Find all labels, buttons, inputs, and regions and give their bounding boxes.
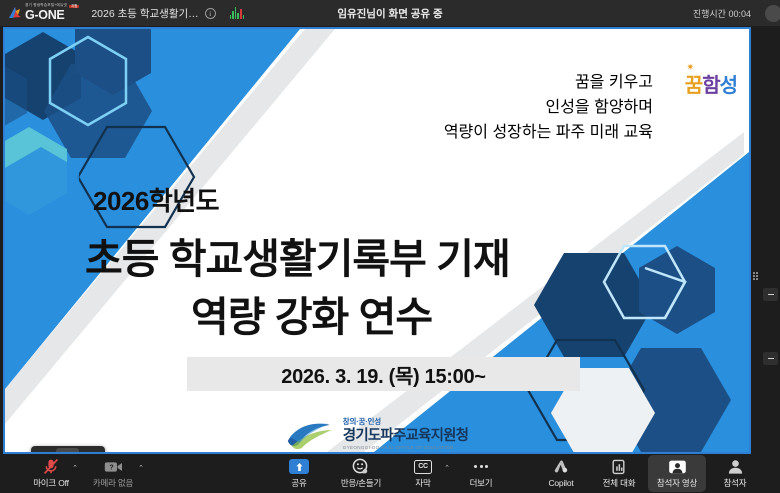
title-bar-right: 진행시간 00:04 — [693, 0, 776, 26]
teams-meeting-window: 경기 평생학습포털+에듀넷 지원 G-ONE 2026 초등 학교생활기… i … — [0, 0, 780, 493]
cc-icon-text: CC — [414, 460, 432, 474]
side-chip-upper[interactable] — [763, 288, 778, 301]
camera-button-label: 카메라 없음 — [93, 477, 133, 489]
chat-button-label: 전체 대화 — [603, 477, 636, 489]
toolbar-left-group: 마이크 Off ⌃ ? 카메라 없음 ⌃ — [22, 455, 146, 492]
g-one-badge: 지원 — [69, 5, 79, 8]
person-icon — [727, 458, 744, 475]
office-name-kr: 경기도파주교육지원청 — [343, 427, 468, 445]
cc-icon: CC — [414, 458, 432, 475]
slide-year: 2026학년도 — [93, 181, 219, 218]
avatar[interactable] — [765, 5, 780, 22]
participants-button-label: 참석자 — [724, 477, 747, 489]
info-icon[interactable]: i — [205, 8, 216, 19]
star-icon — [6, 5, 23, 22]
chat-button[interactable]: 전체 대화 — [590, 455, 648, 492]
side-chip-bar-icon — [768, 294, 774, 295]
mic-button[interactable]: 마이크 Off ⌃ — [22, 455, 80, 492]
reactions-icon — [352, 458, 370, 475]
reactions-button-label: 반응/손들기 — [341, 477, 381, 489]
toolbar-right-group: Copilot 전체 대화 — [532, 455, 764, 492]
svg-text:?: ? — [109, 464, 113, 471]
side-chip-lower[interactable] — [763, 352, 778, 365]
ppt-playback-controls[interactable]: ❚❚ ➤ ❘▶ — [31, 446, 105, 452]
office-logo: 창의·꿈·인성 경기도파주교육지원청 GYEONGGI-DO PAJU OFFI… — [286, 417, 468, 451]
captions-button-label: 자막 — [415, 477, 430, 489]
g-one-wordmark: 경기 평생학습포털+에듀넷 지원 G-ONE — [25, 4, 79, 21]
chevron-up-icon[interactable]: ⌃ — [138, 464, 144, 472]
slide-title-line-1: 초등 학교생활기록부 기재 — [85, 225, 510, 285]
office-text: 창의·꿈·인성 경기도파주교육지원청 GYEONGGI-DO PAJU OFFI… — [343, 417, 468, 450]
slide-text-block: 2026학년도 초등 학교생활기록부 기재 역량 강화 연수 2026. 3. … — [5, 29, 749, 452]
mic-button-label: 마이크 Off — [33, 477, 69, 489]
chat-icon — [611, 458, 628, 475]
participant-video-button-label: 참석자 영상 — [657, 477, 697, 489]
title-bar: 경기 평생학습포털+에듀넷 지원 G-ONE 2026 초등 학교생활기… i … — [0, 0, 780, 26]
drag-handle-dots-icon[interactable] — [753, 272, 758, 280]
share-button-label: 공유 — [291, 477, 306, 489]
swoosh-icon — [286, 417, 336, 451]
copilot-button-label: Copilot — [548, 478, 573, 488]
participant-video-button[interactable]: 참석자 영상 — [648, 455, 706, 492]
office-name-en: GYEONGGI-DO PAJU OFFICE OF EDUCATION — [343, 445, 468, 451]
share-button[interactable]: 공유 — [270, 455, 328, 492]
toolbar-mid-group: 공유 반응/손들기 CC 자막 — [270, 455, 510, 492]
slide-date-text: 2026. 3. 19. (목) 15:00~ — [281, 360, 485, 389]
audio-waveform-icon[interactable] — [230, 7, 245, 19]
presentation-slide: 꿈을 키우고 인성을 함양하며 역량이 성장하는 파주 미래 교육 ✷ 꿈함성 … — [5, 29, 749, 452]
copilot-button[interactable]: Copilot — [532, 455, 590, 492]
chevron-up-icon[interactable]: ⌃ — [444, 464, 450, 472]
chevron-up-icon[interactable]: ⌃ — [72, 464, 78, 472]
ppt-pointer-button[interactable]: ➤ — [56, 448, 79, 452]
more-button[interactable]: 더보기 — [452, 455, 510, 492]
meeting-toolbar: 마이크 Off ⌃ ? 카메라 없음 ⌃ — [0, 454, 780, 493]
ppt-pause-button[interactable]: ❚❚ — [33, 448, 56, 452]
participant-video-icon — [668, 458, 687, 475]
camera-button[interactable]: ? 카메라 없음 ⌃ — [80, 455, 146, 492]
g-one-name: G-ONE — [25, 9, 79, 22]
elapsed-time: 진행시간 00:04 — [693, 7, 751, 20]
share-screen-icon — [289, 458, 309, 475]
more-button-label: 더보기 — [470, 477, 493, 489]
side-chip-bar-icon — [768, 358, 774, 359]
office-tagline: 창의·꿈·인성 — [343, 417, 468, 426]
meeting-tab-title[interactable]: 2026 초등 학교생활기… — [91, 6, 198, 21]
copilot-icon — [552, 459, 570, 476]
more-dots-icon — [474, 458, 488, 475]
camera-none-icon: ? — [104, 458, 123, 475]
g-one-logo: 경기 평생학습포털+에듀넷 지원 G-ONE — [6, 0, 79, 26]
mic-off-icon — [43, 458, 59, 475]
shared-screen-frame[interactable]: 꿈을 키우고 인성을 함양하며 역량이 성장하는 파주 미래 교육 ✷ 꿈함성 … — [3, 27, 751, 454]
reactions-button[interactable]: 반응/손들기 — [328, 455, 394, 492]
ppt-next-slide-button[interactable]: ❘▶ — [80, 448, 103, 452]
participants-button[interactable]: 참석자 — [706, 455, 764, 492]
slide-title-line-2: 역량 강화 연수 — [191, 283, 432, 343]
captions-button[interactable]: CC 자막 ⌃ — [394, 455, 452, 492]
title-bar-left: 경기 평생학습포털+에듀넷 지원 G-ONE 2026 초등 학교생활기… i — [0, 0, 244, 26]
slide-date-band: 2026. 3. 19. (목) 15:00~ — [187, 357, 580, 391]
